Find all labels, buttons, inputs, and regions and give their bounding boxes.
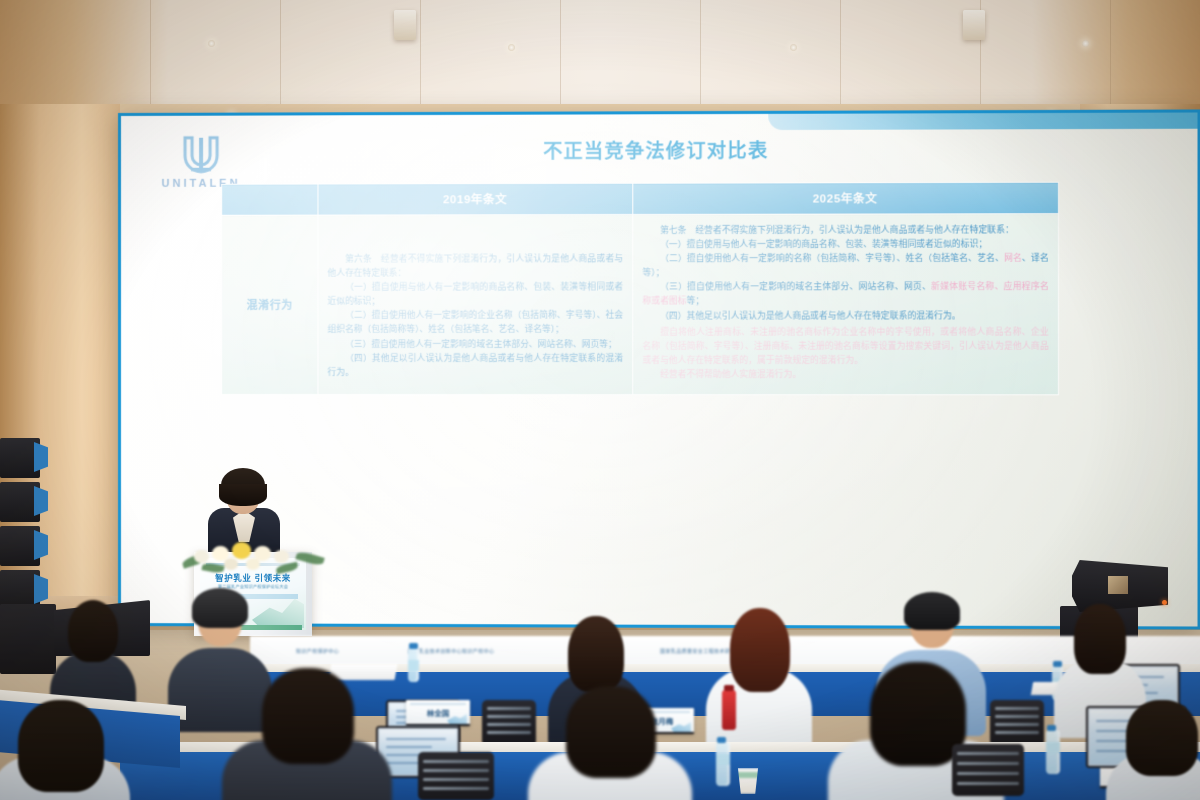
table-header-blank <box>222 184 318 215</box>
water-bottle <box>1046 730 1060 774</box>
ceiling-downlight <box>208 40 215 47</box>
clause-2019-p5: （四）其他足以引人误认为是他人商品或者与他人存在特定联系的混淆行为。 <box>328 352 624 380</box>
subwoofer-speaker <box>0 604 56 674</box>
clause-2019-p4: （三）擅自使用他人有一定影响的域名主体部分、网站名称、网页等； <box>328 337 624 351</box>
clause-2019-p2: （一）擅自使用与他人有一定影响的商品名称、包装、装潢等相同或者近似的标识； <box>328 281 624 310</box>
nameplate-name: 林全国 <box>406 708 470 719</box>
table-header-2025: 2025年条文 <box>633 182 1059 214</box>
clause-2025-p4: （三）擅自使用他人有一定影响的域名主体部分、网站名称、网页、新媒体账号名称、应用… <box>642 280 1048 309</box>
slide-decor-tab <box>768 112 1197 130</box>
audience-member <box>222 668 392 800</box>
table-header-2019: 2019年条文 <box>318 183 633 215</box>
clause-2025-faded-p2: 经营者不得帮助他人实施混淆行为。 <box>642 368 1048 382</box>
ceiling-projector <box>963 10 985 40</box>
clause-2025-highlight-wangming: 网名 <box>1004 254 1022 264</box>
left-line-array-speaker <box>0 438 44 614</box>
presenter-hair <box>221 468 265 502</box>
nameplate: 林全国 <box>406 700 470 726</box>
chair <box>952 744 1024 796</box>
slide-title: 不正当竞争法修订对比表 <box>121 135 1198 165</box>
ceiling-downlight <box>508 44 515 51</box>
ceiling-panel-lines <box>0 0 1200 104</box>
table-row: 混淆行为 第六条 经营者不得实施下列混淆行为，引人误认为是他人商品或者与他人存在… <box>222 214 1059 395</box>
clause-2019-p1: 第六条 经营者不得实施下列混淆行为，引人误认为是他人商品或者与他人存在特定联系： <box>328 252 624 281</box>
clause-2025-p3: （二）擅自使用他人有一定影响的名称（包括简称、字号等）、姓名（包括笔名、艺名、网… <box>642 252 1048 281</box>
clause-2025-faded-block: 擅自将他人注册商标、未注册的驰名商标作为企业名称中的字号使用，或者将他人商品名称… <box>642 325 1048 382</box>
clause-cell-2025: 第七条 经营者不得实施下列混淆行为，引人误认为是他人商品或者与他人存在特定联系：… <box>633 214 1059 395</box>
clause-cell-2019: 第六条 经营者不得实施下列混淆行为，引人误认为是他人商品或者与他人存在特定联系：… <box>318 214 633 394</box>
clause-2025-faded-p1: 擅自将他人注册商标、未注册的驰名商标作为企业名称中的字号使用，或者将他人商品名称… <box>642 325 1048 368</box>
backdrop-text: 知识产权保护中心 <box>296 648 339 655</box>
clause-2025-p3-prefix: （二）擅自使用他人有一定影响的名称（包括简称、字号等）、姓名（包括笔名、艺名、 <box>660 254 1004 265</box>
red-bottle <box>722 690 736 730</box>
ceiling-downlight <box>790 44 797 51</box>
audience-member <box>0 700 130 800</box>
chair <box>418 752 494 800</box>
ceiling-projector <box>394 10 416 40</box>
clause-2025-p4-suffix: 等； <box>686 297 704 307</box>
clause-2025-p1: 第七条 经营者不得实施下列混淆行为，引人误认为是他人商品或者与他人存在特定联系： <box>642 223 1048 238</box>
clause-2025-p2: （一）擅自使用与他人有一定影响的商品名称、包装、装潢等相同或者近似的标识； <box>642 238 1048 253</box>
clause-2025-p5: （四）其他足以引人误认为是他人商品或者与他人存在特定联系的混淆行为。 <box>642 309 1048 324</box>
audience-member <box>528 686 692 800</box>
table-header-row: 2019年条文 2025年条文 <box>222 182 1059 215</box>
conference-room-photo: UNITALEN 不正当竞争法修订对比表 2019年条文 2025年条文 混淆行 <box>0 0 1200 800</box>
water-bottle <box>408 648 419 682</box>
comparison-table: 2019年条文 2025年条文 混淆行为 第六条 经营者不得实施下列混淆行为，引… <box>221 182 1059 396</box>
clause-2019-p3: （二）擅自使用他人有一定影响的企业名称（包括简称、字号等）、社会组织名称（包括简… <box>328 309 624 337</box>
water-bottle <box>716 742 730 786</box>
audience-member <box>1106 700 1200 800</box>
ceiling-downlight <box>1082 40 1089 47</box>
row-label-confusion: 混淆行为 <box>222 215 318 394</box>
ceiling <box>0 0 1200 104</box>
clause-2025-p4-prefix: （三）擅自使用他人有一定影响的域名主体部分、网站名称、网页、 <box>660 282 931 292</box>
podium-flower-arrangement <box>180 540 326 574</box>
backdrop-text: 国家乳业技术创新中心知识产权中心 <box>408 648 494 655</box>
